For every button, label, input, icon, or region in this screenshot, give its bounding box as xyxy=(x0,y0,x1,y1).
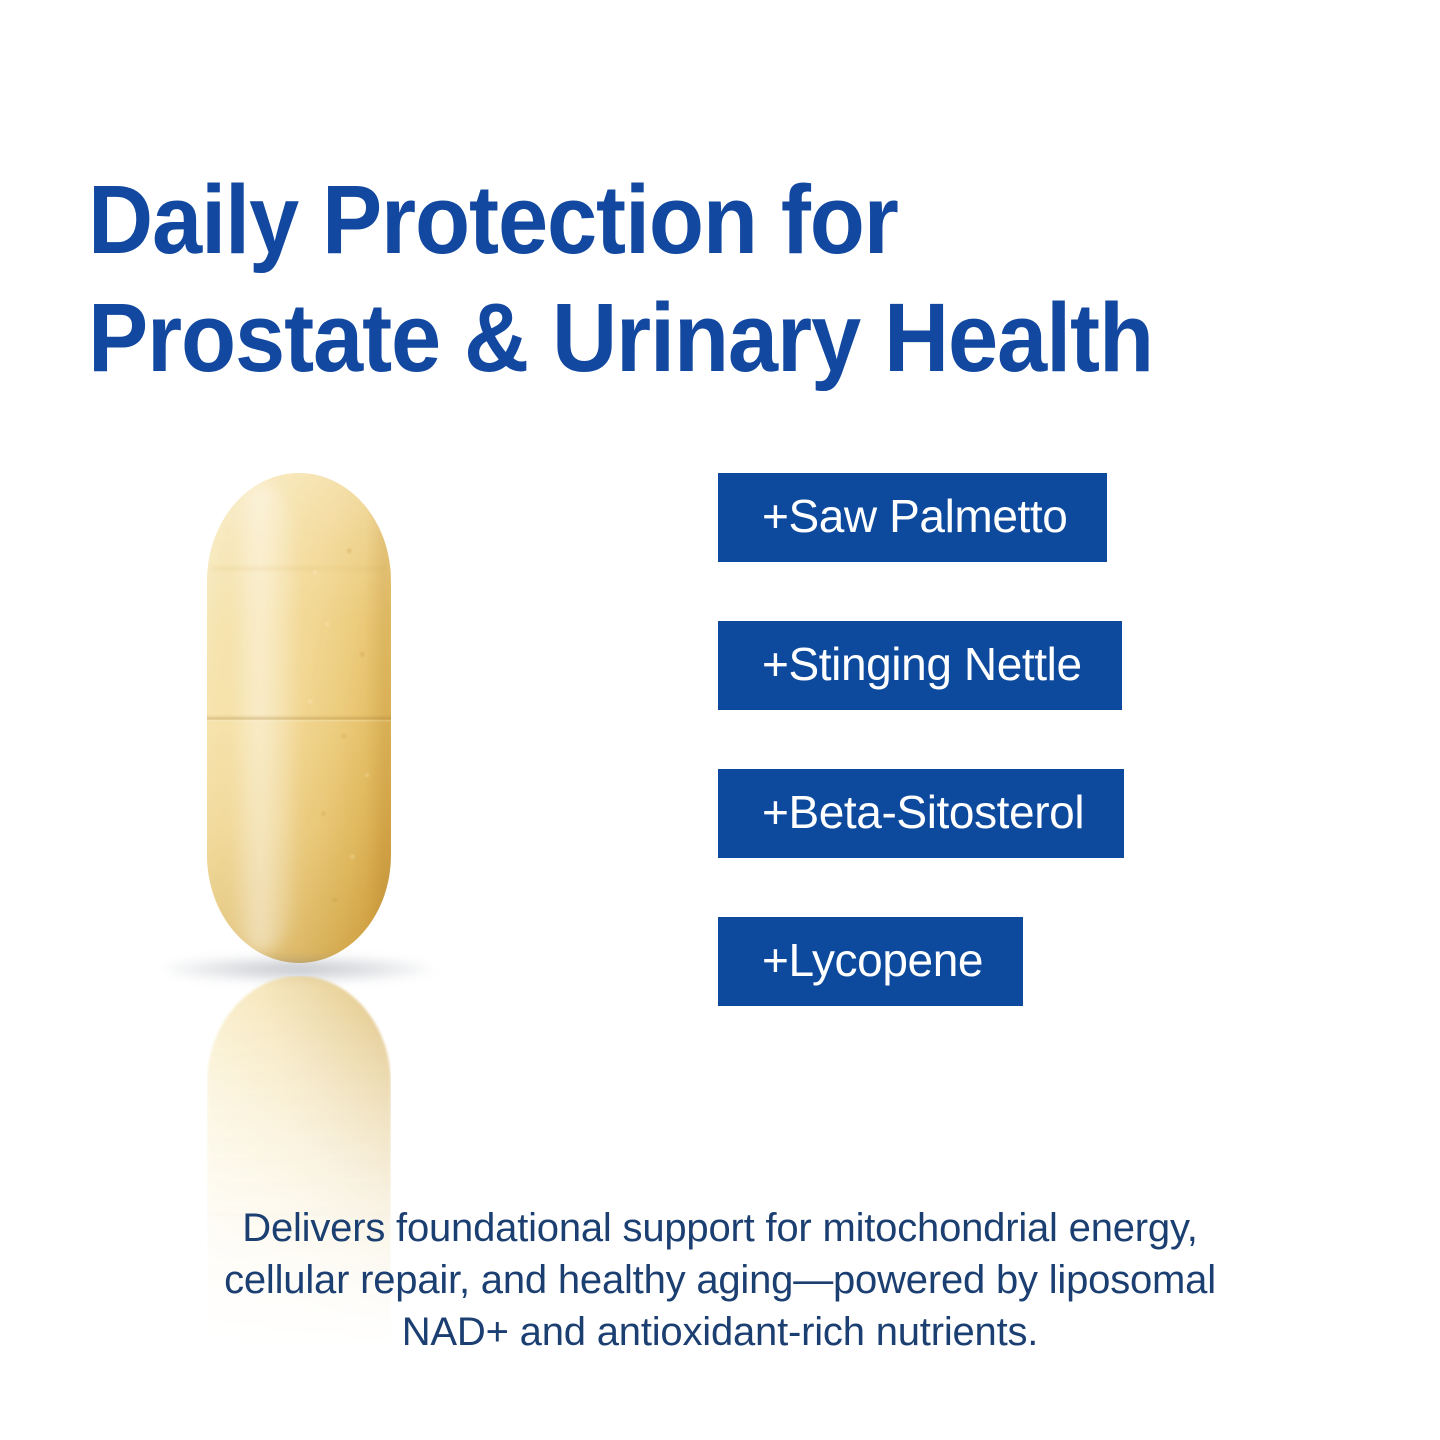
capsule-edge-shading xyxy=(207,473,391,963)
ingredient-badge-list: +Saw Palmetto +Stinging Nettle +Beta-Sit… xyxy=(718,473,1358,1006)
badge-row: +Stinging Nettle xyxy=(718,621,1358,769)
description-line-1: Delivers foundational support for mitoch… xyxy=(120,1202,1320,1254)
badge-row: +Saw Palmetto xyxy=(718,473,1358,621)
product-marketing-card: Daily Protection for Prostate & Urinary … xyxy=(0,0,1440,1440)
capsule-graphic xyxy=(207,473,391,963)
ingredient-badge-lycopene[interactable]: +Lycopene xyxy=(718,917,1023,1006)
headline-line-2: Prostate & Urinary Health xyxy=(88,279,1288,397)
badge-label: +Saw Palmetto xyxy=(762,493,1067,539)
badge-label: +Stinging Nettle xyxy=(762,641,1082,687)
badge-row: +Beta-Sitosterol xyxy=(718,769,1358,917)
ingredient-badge-beta-sitosterol[interactable]: +Beta-Sitosterol xyxy=(718,769,1124,858)
product-description: Delivers foundational support for mitoch… xyxy=(120,1202,1320,1358)
description-line-3: NAD+ and antioxidant-rich nutrients. xyxy=(120,1306,1320,1358)
headline-line-1: Daily Protection for xyxy=(88,161,1288,279)
ingredient-badge-saw-palmetto[interactable]: +Saw Palmetto xyxy=(718,473,1107,562)
ingredient-badge-stinging-nettle[interactable]: +Stinging Nettle xyxy=(718,621,1122,710)
badge-label: +Lycopene xyxy=(762,937,983,983)
page-title: Daily Protection for Prostate & Urinary … xyxy=(88,161,1288,397)
badge-label: +Beta-Sitosterol xyxy=(762,789,1084,835)
description-line-2: cellular repair, and healthy aging—power… xyxy=(120,1254,1320,1306)
badge-row: +Lycopene xyxy=(718,917,1358,1006)
